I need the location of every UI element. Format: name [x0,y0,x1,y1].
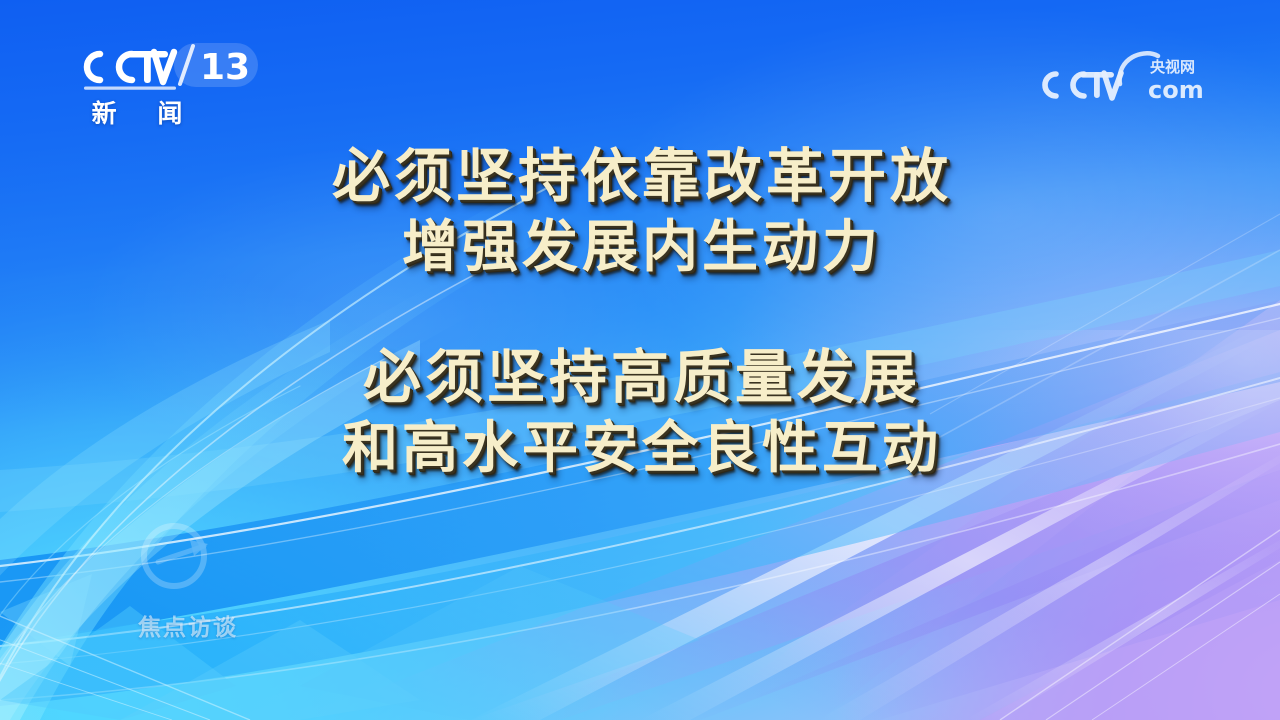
headline-1-line-1: 必须坚持依靠改革开放 [0,140,1280,212]
channel-logo-watermark: 13 新 闻 [62,40,272,140]
cctv13-logo-row: 13 [62,40,272,92]
program-title-label: 焦点访谈 [108,608,268,642]
headline-block-1: 必须坚持依靠改革开放 增强发展内生动力 [0,140,1280,284]
headline-2-line-1: 必须坚持高质量发展 [0,341,1280,413]
cctv-com-icon: 央视网 com [1032,48,1222,106]
program-logo-icon [128,522,220,594]
headline-container: 必须坚持依靠改革开放 增强发展内生动力 必须坚持高质量发展 和高水平安全良性互动 [0,140,1280,485]
broadcast-screen: 13 新 闻 央视网 [0,0,1280,720]
site-domain: com [1148,76,1204,104]
svg-text:13: 13 [200,47,250,88]
headline-block-2: 必须坚持高质量发展 和高水平安全良性互动 [0,341,1280,485]
site-watermark: 央视网 com [1032,48,1222,106]
headline-2-line-2: 和高水平安全良性互动 [0,413,1280,485]
program-watermark: 焦点访谈 [108,522,268,642]
channel-name-label: 新 闻 [62,94,212,130]
headline-1-line-2: 增强发展内生动力 [0,212,1280,284]
cctv13-icon: 13 [62,40,262,92]
site-chinese-name: 央视网 [1150,58,1195,76]
